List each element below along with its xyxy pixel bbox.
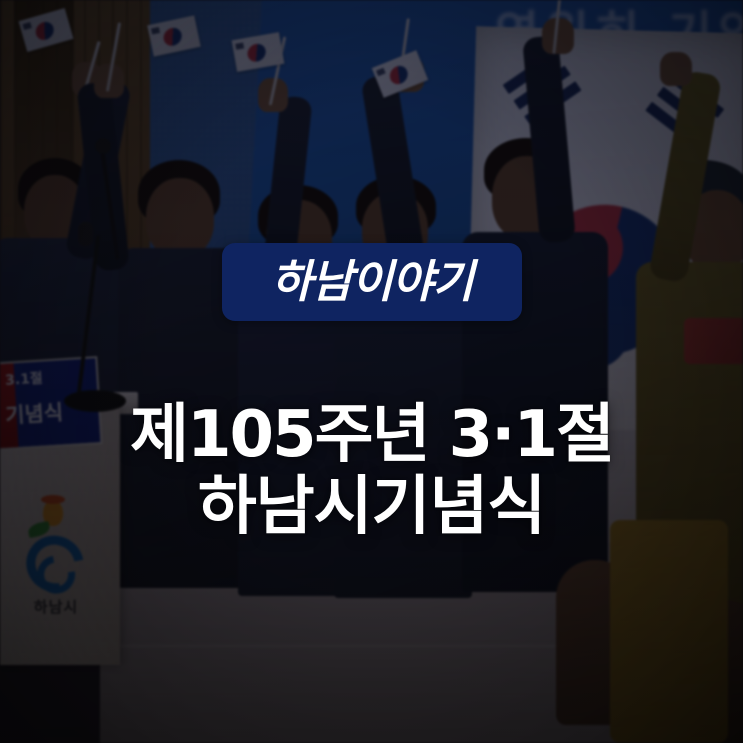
title-line-2: 하남시기념식 [0,472,743,544]
thumbnail-canvas: 영원히 기억하겠습 [0,0,743,743]
title-block: 제105주년 3·1절 하남시기념식 [0,400,743,543]
vignette-overlay [0,0,743,743]
brand-badge: 하남이야기 [222,243,522,321]
title-line-1: 제105주년 3·1절 [0,400,743,472]
brand-badge-label: 하남이야기 [271,259,473,304]
